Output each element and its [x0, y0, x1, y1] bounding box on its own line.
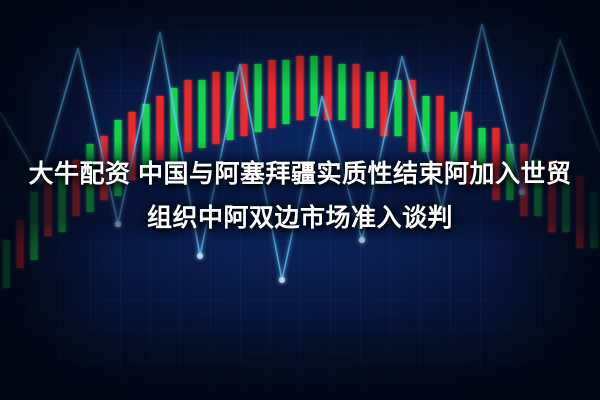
headline-overlay: 大牛配资 中国与阿塞拜疆实质性结束阿加入世贸 组织中阿双边市场准入谈判 — [0, 152, 600, 240]
headline-line-1: 大牛配资 中国与阿塞拜疆实质性结束阿加入世贸 — [6, 152, 594, 196]
banner-image: 大牛配资 中国与阿塞拜疆实质性结束阿加入世贸 组织中阿双边市场准入谈判 — [0, 0, 600, 400]
headline-line-2: 组织中阿双边市场准入谈判 — [6, 196, 594, 240]
